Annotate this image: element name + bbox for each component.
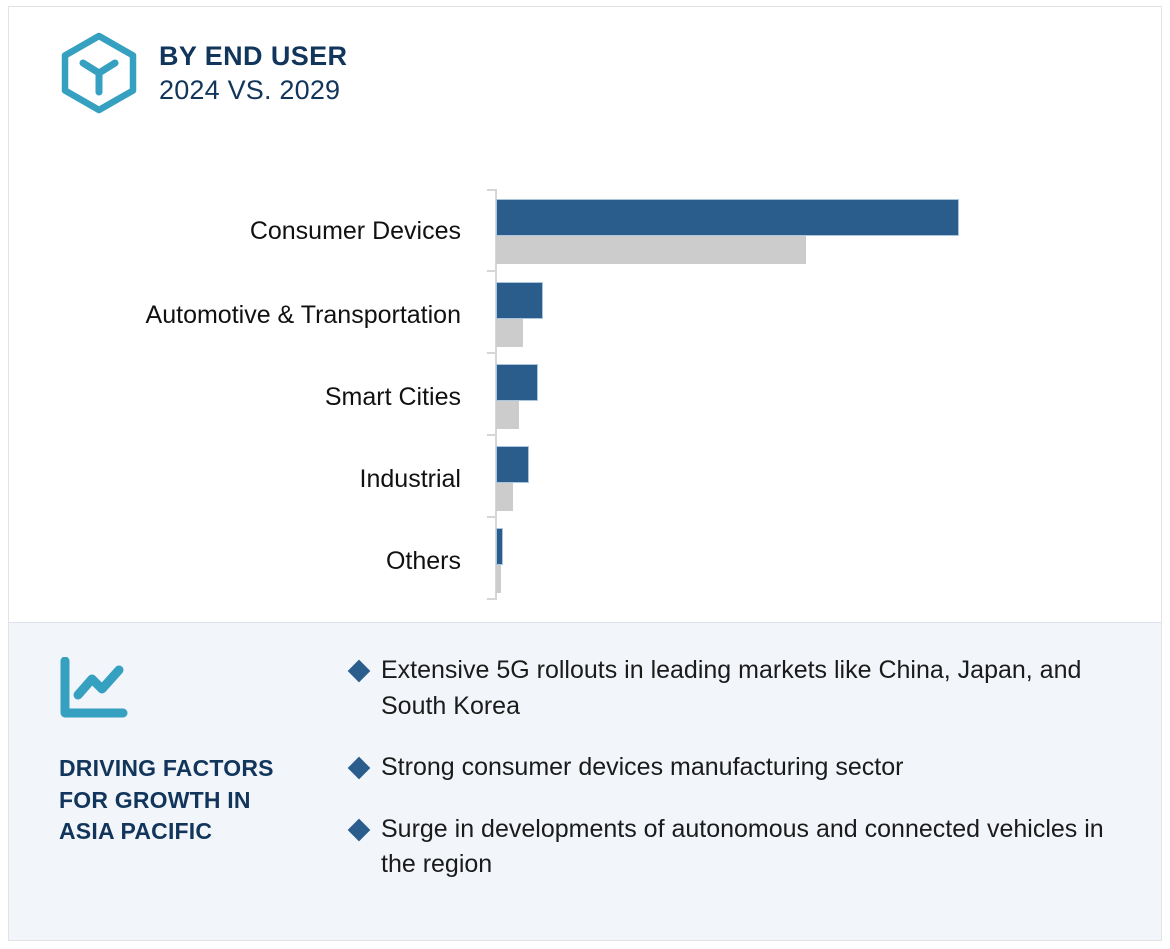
list-item: Strong consumer devices manufacturing se… [351,750,1131,786]
panel-heading-line-2: FOR GROWTH IN [59,785,341,817]
bar-2029-smart-cities [496,364,538,401]
y-axis-bottom-cap [487,598,497,600]
panel-left-column: DRIVING FACTORS FOR GROWTH IN ASIA PACIF… [9,623,341,940]
y-axis-tick-1 [487,270,496,272]
category-label-smart-cities: Smart Cities [325,383,461,412]
page-subtitle: 2024 VS. 2029 [159,77,347,104]
y-axis-top-cap [487,189,497,191]
bar-2024-industrial [496,483,513,511]
header: BY END USER 2024 VS. 2029 [57,31,347,115]
panel-heading-line-1: DRIVING FACTORS [59,753,341,785]
bullet-text-3: Surge in developments of autonomous and … [381,812,1131,883]
bar-2024-smart-cities [496,401,519,429]
infographic-card: BY END USER 2024 VS. 2029 Consumer Devic… [8,6,1162,941]
bar-2029-automotive-transportation [496,282,543,319]
category-label-consumer-devices: Consumer Devices [250,217,461,246]
y-axis-tick-2 [487,352,496,354]
bar-2029-consumer-devices [496,199,959,236]
bar-2029-industrial [496,446,529,483]
panel-heading: DRIVING FACTORS FOR GROWTH IN ASIA PACIF… [59,753,341,848]
bullet-text-2: Strong consumer devices manufacturing se… [381,750,903,786]
diamond-bullet-icon [348,818,371,841]
panel-heading-line-3: ASIA PACIFIC [59,816,341,848]
bullet-text-1: Extensive 5G rollouts in leading markets… [381,653,1131,724]
y-axis-tick-4 [487,516,496,518]
list-item: Surge in developments of autonomous and … [351,812,1131,883]
diamond-bullet-icon [348,660,371,683]
bar-chart: Consumer Devices Automotive & Transporta… [9,167,1161,622]
bar-2029-others [496,528,503,565]
y-axis-tick-3 [487,434,496,436]
plot-area [487,177,1047,612]
bar-2024-others [496,565,501,593]
header-text-block: BY END USER 2024 VS. 2029 [159,43,347,104]
bar-2024-automotive-transportation [496,319,523,347]
driving-factors-panel: DRIVING FACTORS FOR GROWTH IN ASIA PACIF… [9,622,1161,940]
line-chart-icon [59,657,341,719]
page-title: BY END USER [159,43,347,70]
list-item: Extensive 5G rollouts in leading markets… [351,653,1131,724]
panel-bullet-list: Extensive 5G rollouts in leading markets… [341,623,1161,940]
diamond-bullet-icon [348,757,371,780]
category-label-automotive-transportation: Automotive & Transportation [146,301,461,330]
hexagon-y-icon [57,31,141,115]
category-label-others: Others [386,547,461,576]
bar-2024-consumer-devices [496,236,806,264]
category-label-industrial: Industrial [360,465,461,494]
category-labels: Consumer Devices Automotive & Transporta… [9,177,475,612]
